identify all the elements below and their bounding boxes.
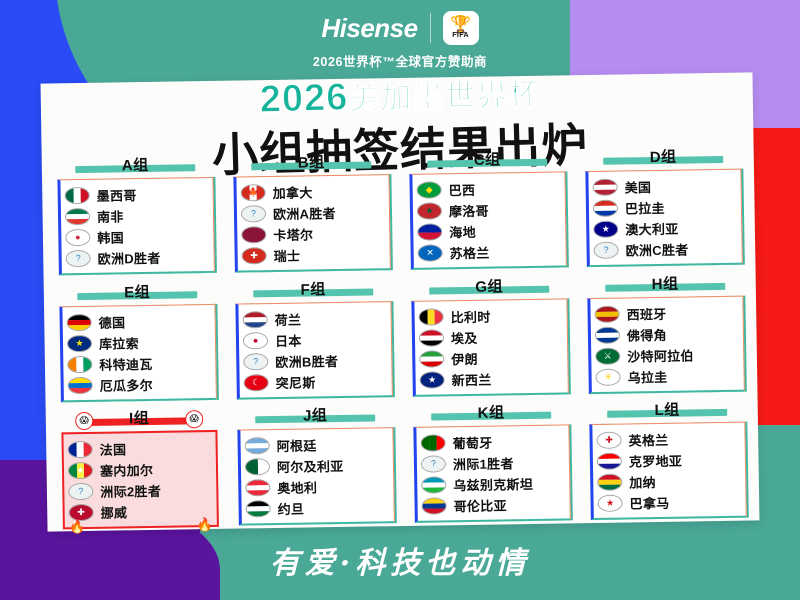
team-row[interactable]: 美国: [592, 175, 736, 198]
team-name: 库拉索: [99, 333, 139, 353]
team-name: 墨西哥: [97, 185, 137, 205]
group-card-B组[interactable]: B组🍁加拿大?欧洲A胜者卡塔尔✚瑞士: [225, 150, 399, 279]
group-team-list: 美国巴拉圭★澳大利亚?欧洲C胜者: [585, 169, 742, 267]
unknown-flag: ?: [421, 456, 446, 473]
japan-flag: ●: [243, 332, 268, 349]
team-row[interactable]: 奥地利: [245, 476, 389, 499]
team-row[interactable]: 🍁加拿大: [241, 180, 385, 203]
germany-flag: [67, 314, 92, 331]
group-team-list: ◆巴西★摩洛哥海地✕苏格兰: [409, 171, 566, 269]
ghana-flag: [597, 474, 622, 491]
team-row[interactable]: ◆巴西: [416, 177, 560, 200]
team-row[interactable]: 西班牙: [594, 301, 738, 324]
usa-flag: [592, 179, 617, 196]
team-name: 韩国: [97, 227, 124, 246]
group-card-H组[interactable]: H组西班牙佛得角⚔沙特阿拉伯☀乌拉圭: [579, 271, 753, 400]
team-row[interactable]: ●日本: [243, 328, 387, 351]
group-header: F组: [235, 277, 391, 301]
team-row[interactable]: 阿根廷: [244, 434, 388, 457]
team-name: 摩洛哥: [449, 201, 489, 221]
team-row[interactable]: 南非: [65, 204, 209, 227]
team-name: 荷兰: [275, 309, 302, 328]
ecuador-flag: [68, 377, 93, 394]
senegal-flag: ★: [68, 462, 93, 479]
footer-slogan: 有爱·科技也动情: [0, 538, 800, 582]
group-team-list: 法国★塞内加尔?洲际2胜者✚挪威🔥🔥: [61, 430, 219, 529]
group-team-list: 比利时埃及伊朗★新西兰: [411, 298, 568, 396]
group-header: K组: [413, 401, 569, 425]
team-row[interactable]: 乌兹别克斯坦: [421, 473, 565, 496]
group-header: H组: [587, 271, 743, 295]
team-name: 欧洲C胜者: [625, 239, 688, 259]
unknown-flag: ?: [66, 250, 91, 267]
group-label: C组: [470, 148, 505, 170]
uzbekistan-flag: [421, 477, 446, 494]
team-row[interactable]: ⚔沙特阿拉伯: [595, 343, 739, 366]
team-row[interactable]: 厄瓜多尔: [68, 373, 212, 396]
team-name: 阿根廷: [276, 436, 316, 456]
brand-header: Hisense 🏆 FIFA 2026世界杯™全球官方赞助商: [0, 8, 800, 70]
team-row[interactable]: ★新西兰: [419, 367, 563, 390]
group-header: 😱😱I组: [61, 406, 217, 430]
group-card-L组[interactable]: L组✚英格兰克罗地亚加纳★巴拿马: [581, 398, 755, 527]
team-row[interactable]: ✚英格兰: [596, 428, 740, 451]
group-card-F组[interactable]: F组荷兰●日本?欧洲B胜者☾突尼斯: [227, 277, 401, 406]
team-name: 科特迪瓦: [99, 354, 152, 374]
team-row[interactable]: 加纳: [597, 470, 741, 493]
team-name: 法国: [100, 440, 127, 459]
group-header: B组: [233, 150, 389, 174]
scotland-flag: ✕: [418, 244, 443, 261]
team-row[interactable]: 巴拉圭: [593, 196, 737, 219]
team-row[interactable]: ?欧洲D胜者: [66, 246, 210, 269]
belgium-flag: [419, 308, 444, 325]
team-row[interactable]: 比利时: [418, 304, 562, 327]
south-africa-flag: [65, 208, 90, 225]
team-row[interactable]: ●韩国: [65, 225, 209, 248]
team-row[interactable]: ★塞内加尔: [68, 458, 212, 481]
header-divider: [430, 13, 431, 43]
argentina-flag: [245, 437, 270, 454]
new-zealand-flag: ★: [419, 371, 444, 388]
uruguay-flag: ☀: [595, 368, 620, 385]
group-header: D组: [585, 145, 741, 169]
team-name: 沙特阿拉伯: [627, 345, 694, 365]
canada-flag: 🍁: [241, 184, 266, 201]
team-name: 塞内加尔: [100, 460, 153, 480]
unknown-flag: ?: [593, 242, 618, 259]
group-team-list: 葡萄牙?洲际1胜者乌兹别克斯坦哥伦比亚: [413, 425, 570, 523]
team-name: 乌拉圭: [627, 366, 667, 386]
team-name: 卡塔尔: [273, 224, 313, 244]
team-name: 瑞士: [274, 246, 301, 265]
group-header: J组: [237, 403, 393, 427]
team-name: 约旦: [277, 499, 304, 518]
team-name: 欧洲A胜者: [273, 203, 336, 223]
team-name: 日本: [275, 330, 302, 349]
team-row[interactable]: ?欧洲B胜者: [243, 349, 387, 372]
team-row[interactable]: 海地: [417, 219, 561, 242]
team-row[interactable]: 佛得角: [595, 322, 739, 345]
team-row[interactable]: ★巴拿马: [597, 491, 741, 514]
team-name: 加纳: [629, 472, 656, 491]
team-row[interactable]: 科特迪瓦: [67, 352, 211, 375]
group-card-I组[interactable]: 😱😱I组法国★塞内加尔?洲际2胜者✚挪威🔥🔥: [53, 406, 227, 535]
mexico-flag: [65, 187, 90, 204]
team-name: 新西兰: [451, 369, 491, 389]
colombia-flag: [421, 498, 446, 515]
footer: 有爱·科技也动情: [0, 538, 800, 582]
team-row[interactable]: 卡塔尔: [241, 222, 385, 245]
group-header: E组: [59, 280, 215, 304]
croatia-flag: [597, 453, 622, 470]
group-label: B组: [294, 151, 329, 173]
netherlands-flag: [243, 311, 268, 328]
unknown-flag: ?: [241, 205, 266, 222]
group-header: G组: [411, 274, 567, 298]
fire-icon: 🔥: [69, 519, 85, 535]
paraguay-flag: [593, 200, 618, 217]
group-team-list: ✚英格兰克罗地亚加纳★巴拿马: [589, 422, 746, 520]
team-row[interactable]: ☾突尼斯: [243, 370, 387, 393]
group-label: D组: [646, 146, 681, 168]
group-card-D组[interactable]: D组美国巴拉圭★澳大利亚?欧洲C胜者: [577, 145, 751, 274]
group-label: G组: [471, 275, 507, 297]
team-row[interactable]: ★摩洛哥: [417, 198, 561, 221]
qatar-flag: [241, 226, 266, 243]
team-name: 奥地利: [277, 478, 317, 498]
team-name: 阿尔及利亚: [277, 456, 344, 476]
team-name: 葡萄牙: [452, 433, 492, 453]
group-team-list: 德国★库拉索科特迪瓦厄瓜多尔: [59, 304, 216, 402]
shocked-face-icon: 😱: [75, 412, 93, 430]
team-name: 巴西: [448, 180, 475, 199]
group-team-list: 西班牙佛得角⚔沙特阿拉伯☀乌拉圭: [587, 295, 744, 393]
team-row[interactable]: ?欧洲C胜者: [593, 238, 737, 261]
team-name: 美国: [624, 177, 651, 196]
team-name: 海地: [449, 222, 476, 241]
group-team-list: 荷兰●日本?欧洲B胜者☾突尼斯: [235, 301, 392, 399]
team-name: 欧洲B胜者: [275, 351, 338, 371]
team-name: 哥伦比亚: [453, 496, 506, 516]
team-name: 加拿大: [273, 182, 313, 202]
group-team-list: 🍁加拿大?欧洲A胜者卡塔尔✚瑞士: [233, 174, 390, 272]
panama-flag: ★: [597, 495, 622, 512]
hisense-logo: Hisense: [321, 13, 417, 44]
fire-icon: 🔥: [197, 517, 213, 533]
team-name: 南非: [97, 206, 124, 225]
group-card-C组[interactable]: C组◆巴西★摩洛哥海地✕苏格兰: [401, 147, 575, 276]
unknown-flag: ?: [243, 353, 268, 370]
team-row[interactable]: 德国: [67, 310, 211, 333]
team-row[interactable]: 哥伦比亚: [421, 494, 565, 517]
england-flag: ✚: [596, 432, 621, 449]
team-name: 佛得角: [627, 324, 667, 344]
group-label: H组: [648, 272, 683, 294]
morocco-flag: ★: [417, 202, 442, 219]
team-name: 伊朗: [451, 348, 478, 367]
team-row[interactable]: 阿尔及利亚: [245, 455, 389, 478]
team-row[interactable]: ★澳大利亚: [593, 217, 737, 240]
team-row[interactable]: ?洲际1胜者: [421, 452, 565, 475]
group-card-K组[interactable]: K组葡萄牙?洲际1胜者乌兹别克斯坦哥伦比亚: [405, 401, 579, 530]
team-name: 突尼斯: [275, 372, 315, 392]
team-name: 德国: [99, 312, 126, 331]
team-row[interactable]: 约旦: [245, 497, 389, 520]
team-row[interactable]: 墨西哥: [65, 183, 209, 206]
saudi-arabia-flag: ⚔: [595, 347, 620, 364]
team-name: 澳大利亚: [625, 219, 678, 239]
group-team-list: 墨西哥南非●韩国?欧洲D胜者: [57, 177, 214, 275]
fifa-label: FIFA: [452, 32, 469, 39]
unknown-flag: ?: [68, 483, 93, 500]
shocked-face-icon: 😱: [185, 410, 203, 428]
title-year: 2026: [259, 76, 349, 120]
team-row[interactable]: ✚挪威: [69, 500, 213, 523]
austria-flag: [245, 479, 270, 496]
team-row[interactable]: 荷兰: [242, 307, 386, 330]
team-row[interactable]: 埃及: [419, 325, 563, 348]
team-name: 厄瓜多尔: [100, 375, 153, 395]
iran-flag: [419, 350, 444, 367]
group-card-J组[interactable]: J组阿根廷阿尔及利亚奥地利约旦: [229, 403, 403, 532]
brand-row: Hisense 🏆 FIFA: [0, 8, 800, 48]
team-name: 英格兰: [628, 430, 668, 450]
australia-flag: ★: [593, 221, 618, 238]
team-name: 埃及: [451, 327, 478, 346]
team-row[interactable]: ✕苏格兰: [417, 240, 561, 263]
team-name: 比利时: [450, 306, 490, 326]
group-label: E组: [120, 281, 154, 303]
egypt-flag: [419, 329, 444, 346]
groups-grid: A组墨西哥南非●韩国?欧洲D胜者B组🍁加拿大?欧洲A胜者卡塔尔✚瑞士C组◆巴西★…: [49, 145, 755, 536]
jordan-flag: [246, 500, 271, 517]
tunisia-flag: ☾: [244, 374, 269, 391]
team-name: 洲际1胜者: [453, 454, 514, 474]
group-team-list: 阿根廷阿尔及利亚奥地利约旦: [237, 427, 394, 525]
group-header: L组: [589, 398, 745, 422]
group-label: K组: [474, 402, 509, 424]
team-name: 挪威: [101, 503, 128, 522]
curacao-flag: ★: [67, 335, 92, 352]
group-label: L组: [650, 399, 683, 421]
team-name: 西班牙: [626, 303, 666, 323]
team-row[interactable]: ?洲际2胜者: [68, 479, 212, 502]
team-row[interactable]: 葡萄牙: [420, 431, 564, 454]
team-row[interactable]: ✚瑞士: [241, 243, 385, 266]
spain-flag: [594, 305, 619, 322]
brazil-flag: ◆: [417, 181, 442, 198]
team-name: 欧洲D胜者: [98, 248, 161, 268]
switzerland-flag: ✚: [242, 247, 267, 264]
team-row[interactable]: 伊朗: [419, 346, 563, 369]
ivory-coast-flag: [67, 356, 92, 373]
portugal-flag: [420, 435, 445, 452]
team-row[interactable]: 法国: [68, 437, 212, 460]
france-flag: [68, 441, 93, 458]
team-row[interactable]: 克罗地亚: [597, 449, 741, 472]
team-name: 克罗地亚: [629, 451, 682, 471]
haiti-flag: [417, 223, 442, 240]
group-label: A组: [118, 154, 153, 176]
team-name: 苏格兰: [449, 243, 489, 263]
team-name: 洲际2胜者: [100, 481, 161, 501]
team-row[interactable]: ?欧洲A胜者: [241, 201, 385, 224]
group-label: F组: [296, 278, 329, 300]
algeria-flag: [245, 458, 270, 475]
group-label: J组: [299, 404, 332, 426]
south-korea-flag: ●: [65, 229, 90, 246]
team-row[interactable]: ★库拉索: [67, 331, 211, 354]
fifa-badge: 🏆 FIFA: [443, 11, 479, 45]
team-name: 巴拿马: [629, 493, 669, 513]
team-name: 乌兹别克斯坦: [453, 474, 533, 494]
trophy-icon: 🏆: [450, 17, 471, 32]
group-header: C组: [409, 147, 565, 171]
team-name: 巴拉圭: [625, 198, 665, 218]
group-card-A组[interactable]: A组墨西哥南非●韩国?欧洲D胜者: [49, 153, 223, 282]
cape-verde-flag: [595, 326, 620, 343]
group-label: I组: [125, 407, 153, 428]
team-row[interactable]: ☀乌拉圭: [595, 364, 739, 387]
group-card-E组[interactable]: E组德国★库拉索科特迪瓦厄瓜多尔: [51, 279, 225, 408]
group-header: A组: [57, 153, 213, 177]
group-card-G组[interactable]: G组比利时埃及伊朗★新西兰: [403, 274, 577, 403]
